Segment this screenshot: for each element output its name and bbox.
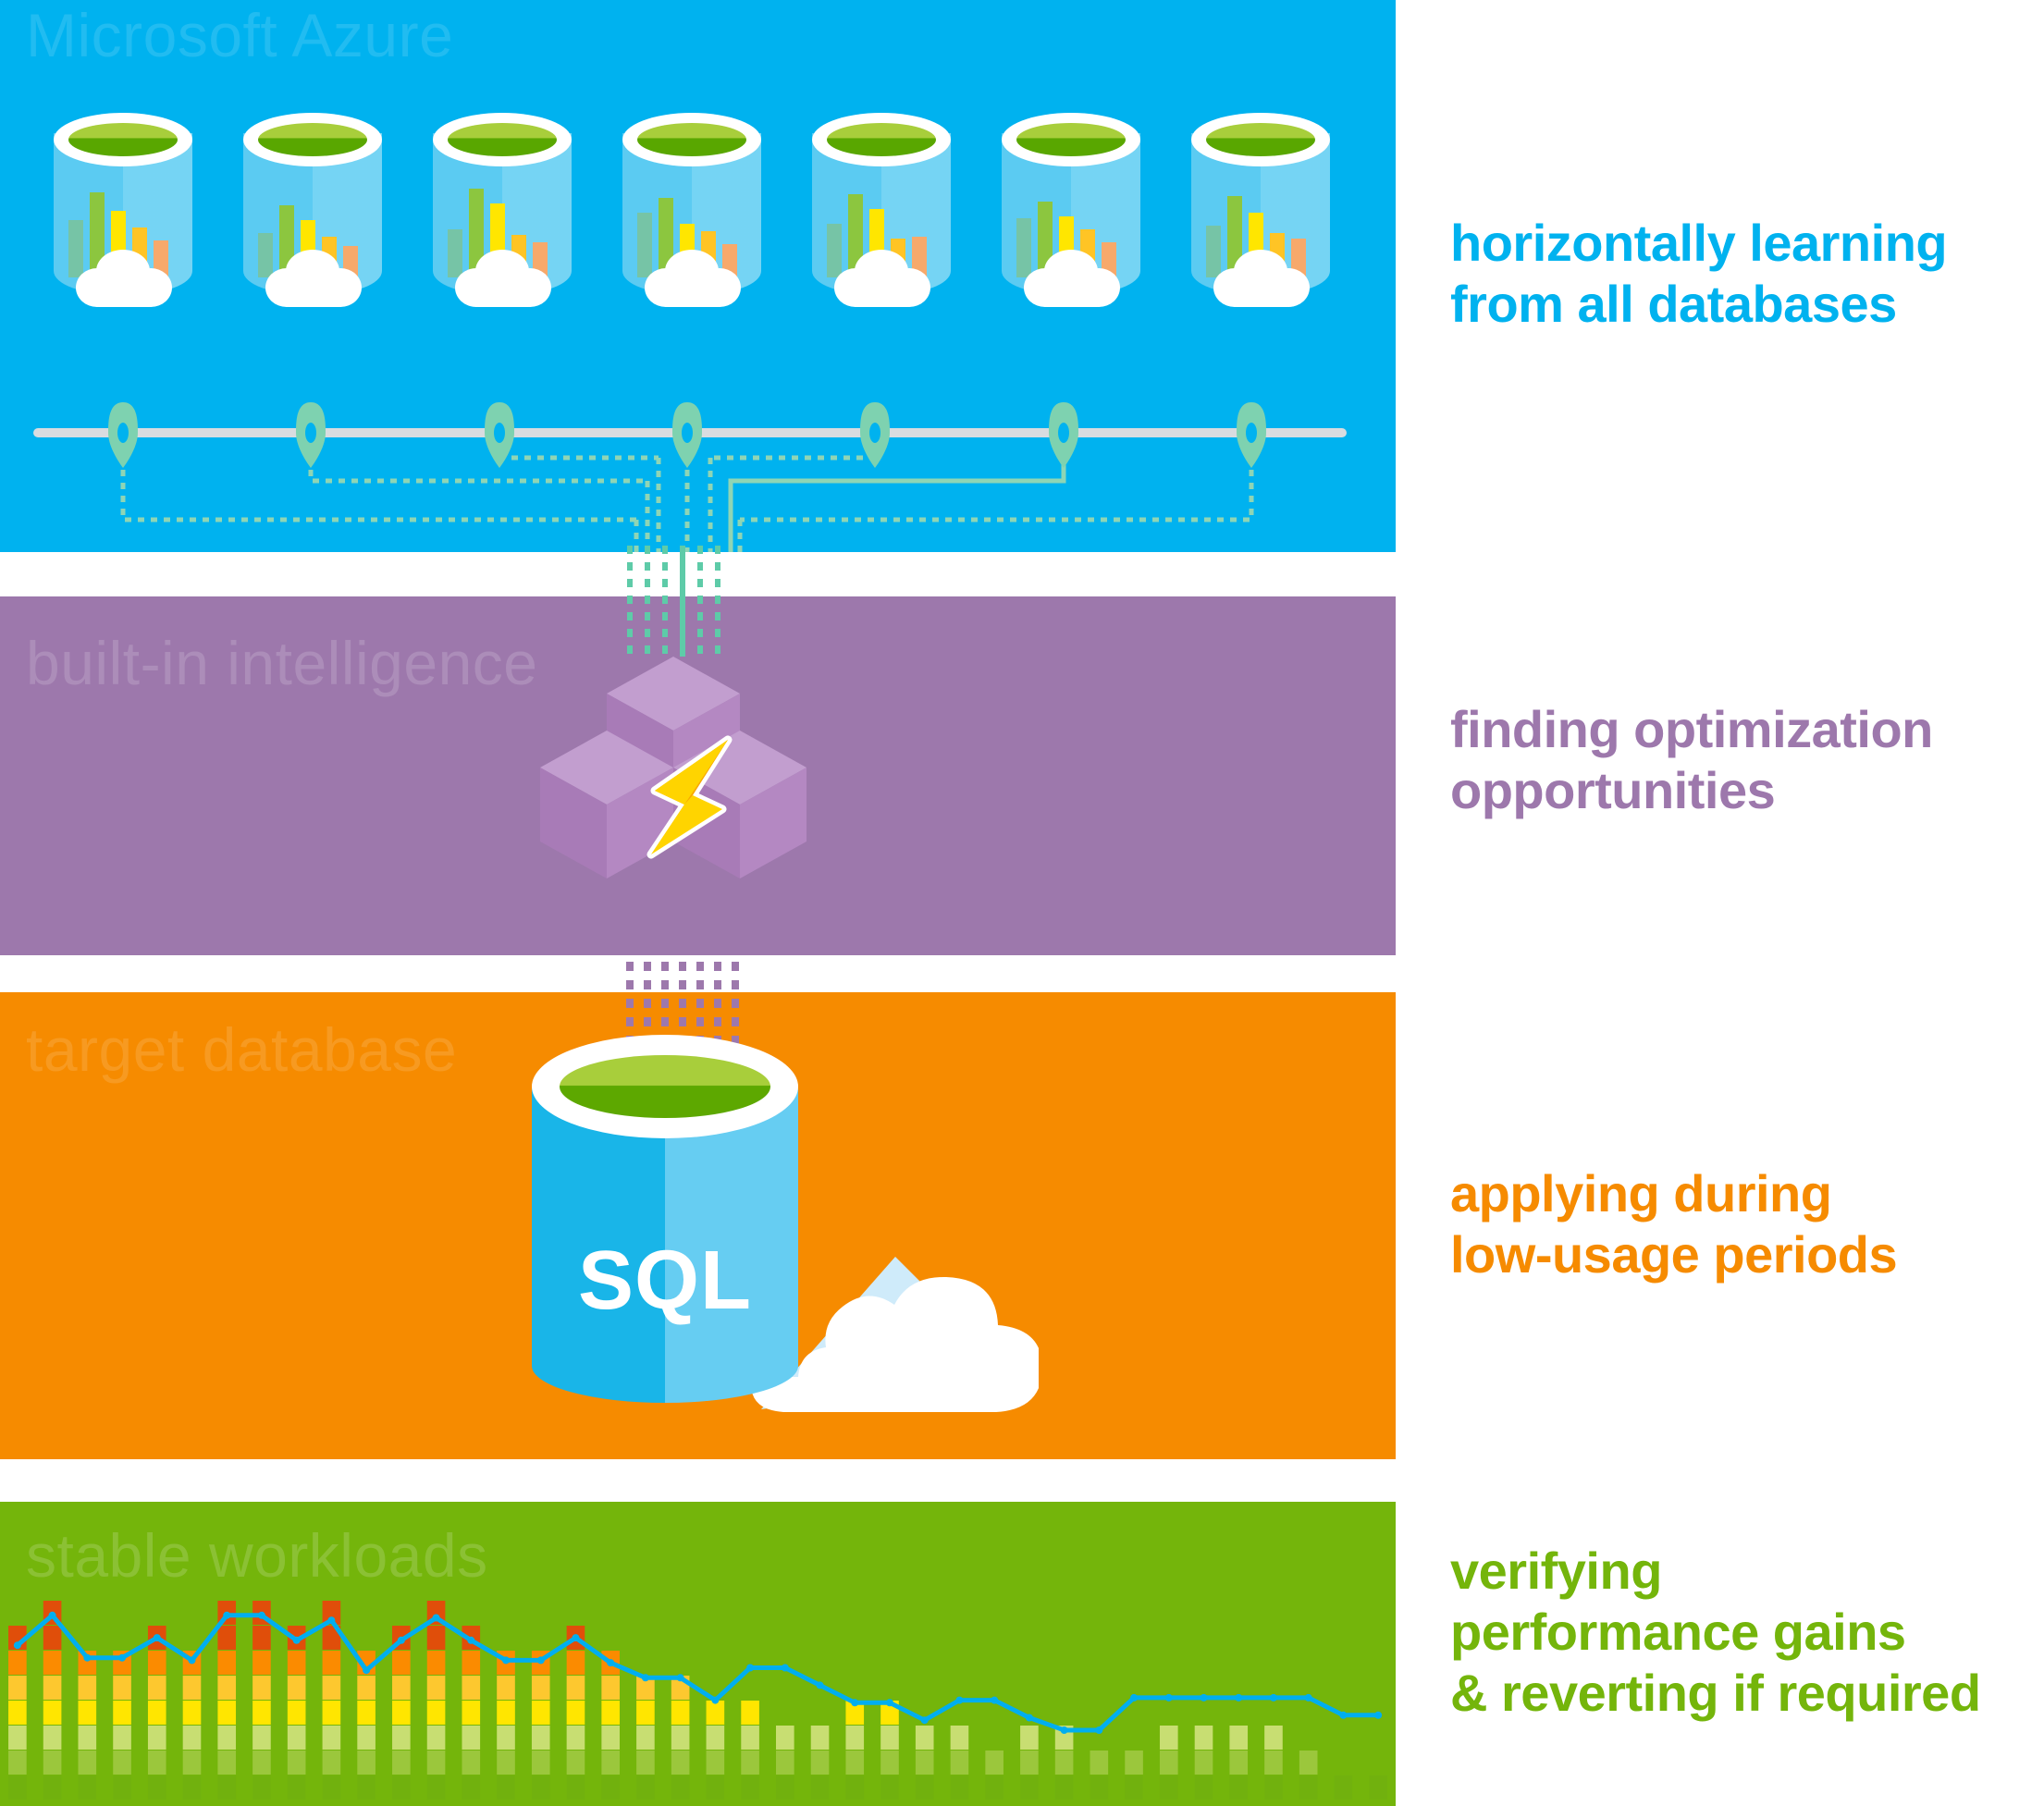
workload-bar-segment (671, 1751, 690, 1775)
workload-bar-segment (1335, 1775, 1353, 1800)
workload-bar-segment (427, 1751, 446, 1775)
workload-bar-segment (43, 1626, 62, 1650)
workload-bar-segment (357, 1751, 376, 1775)
workload-bar-segment (323, 1651, 341, 1675)
timeline-pin-hole (305, 423, 316, 443)
workload-bar-segment (43, 1775, 62, 1800)
workload-bar-segment (532, 1701, 550, 1725)
workload-bar-segment (183, 1676, 202, 1700)
workload-bar-segment (601, 1751, 620, 1775)
callout-purple-line1: finding optimization (1450, 699, 1933, 760)
workload-bar-segment (357, 1775, 376, 1800)
workload-trend-point (83, 1654, 91, 1662)
workload-bar-segment (148, 1726, 166, 1750)
workload-bar-segment (880, 1726, 899, 1750)
workload-bar-segment (148, 1751, 166, 1775)
azure-sql-database-icon: SQL (532, 1035, 1050, 1432)
workload-bar-segment (497, 1751, 515, 1775)
workload-bar-segment (1125, 1775, 1143, 1800)
workload-bar-segment (79, 1775, 97, 1800)
workload-bar-segment (79, 1676, 97, 1700)
workload-bar-segment (741, 1726, 759, 1750)
callout-verifying-performance: verifying performance gains & reverting … (1450, 1541, 1981, 1724)
workload-bar-segment (951, 1751, 969, 1775)
workload-bar-segment (288, 1751, 306, 1775)
workload-bar-segment (427, 1701, 446, 1725)
workload-trend-point (1026, 1714, 1033, 1722)
infographic-canvas: Microsoft Azure (0, 0, 2044, 1806)
workload-bar-segment (985, 1775, 1004, 1800)
callout-applying-low-usage: applying during low-usage periods (1450, 1163, 1897, 1285)
workload-bar-segment (567, 1676, 585, 1700)
workload-bar-segment (43, 1651, 62, 1675)
workload-bar-segment (288, 1726, 306, 1750)
band-horizontal-learning: Microsoft Azure (0, 0, 1396, 552)
workload-bar-segment (1160, 1751, 1178, 1775)
workload-bar-segment (1020, 1751, 1039, 1775)
workload-bar-segment (811, 1775, 830, 1800)
workload-bar-segment (113, 1751, 131, 1775)
workload-bar-segment (1195, 1751, 1213, 1775)
workload-trend-point (886, 1699, 893, 1706)
workload-bar-segment (288, 1676, 306, 1700)
workload-bar-segment (43, 1751, 62, 1775)
workload-trend-point (258, 1612, 265, 1619)
workload-bar-segment (217, 1701, 236, 1725)
workload-bar-segment (323, 1726, 341, 1750)
workload-bar-segment (288, 1651, 306, 1675)
workload-bar-segment (113, 1775, 131, 1800)
timeline-pin-hole (1246, 423, 1257, 443)
workload-trend-point (851, 1699, 858, 1706)
workload-bar-segment (1055, 1775, 1074, 1800)
workload-bar-segment (811, 1726, 830, 1750)
workload-bar-segment (532, 1775, 550, 1800)
workload-bar-segment (1369, 1775, 1387, 1800)
workload-bar-segment (392, 1676, 411, 1700)
workload-bar-segment (1299, 1775, 1318, 1800)
workload-bar-segment (217, 1726, 236, 1750)
database-cylinder-top-fill (560, 1055, 770, 1118)
workload-bar-segment (462, 1701, 480, 1725)
workload-trend-point (746, 1665, 754, 1672)
workload-bar-segment (217, 1751, 236, 1775)
timeline-pin-hole (869, 423, 880, 443)
workload-bar-segment (462, 1726, 480, 1750)
workload-bar-segment (916, 1751, 934, 1775)
workload-bar-segment (392, 1751, 411, 1775)
workload-bar-segment (427, 1626, 446, 1650)
timeline-pin-hole (1058, 423, 1069, 443)
workload-bar-segment (1195, 1775, 1213, 1800)
workload-bar-segment (1090, 1751, 1109, 1775)
workload-trend-point (154, 1634, 161, 1641)
workload-bar-segment (601, 1701, 620, 1725)
workload-bar-segment (8, 1726, 27, 1750)
workload-bar-segment (113, 1676, 131, 1700)
workload-bar-segment (567, 1775, 585, 1800)
workload-bar-segment (776, 1751, 794, 1775)
workload-trend-point (1130, 1694, 1138, 1702)
workload-bar-segment (567, 1651, 585, 1675)
workload-bar-segment (79, 1701, 97, 1725)
callout-green-line2: performance gains (1450, 1602, 1981, 1663)
workload-trend-point (607, 1659, 614, 1666)
workload-bar-segment (43, 1701, 62, 1725)
workload-bar-segment (776, 1775, 794, 1800)
workload-bar-segment (707, 1775, 725, 1800)
workload-bar-segment (707, 1701, 725, 1725)
workload-bar-segment (636, 1775, 655, 1800)
callout-blue-line2: from all databases (1450, 274, 1947, 335)
workload-trend-point (711, 1697, 719, 1704)
workload-bar-segment (567, 1701, 585, 1725)
workload-bar-segment (951, 1726, 969, 1750)
workload-bar-segment (8, 1701, 27, 1725)
workload-trend-point (572, 1634, 579, 1641)
workload-bar-segment (148, 1775, 166, 1800)
workload-bar-segment (113, 1726, 131, 1750)
workload-bar-segment (1125, 1751, 1143, 1775)
workload-bar-segment (845, 1726, 864, 1750)
workload-bar-segment (427, 1726, 446, 1750)
workload-bar-segment (916, 1775, 934, 1800)
callout-green-line3: & reverting if required (1450, 1663, 1981, 1724)
workload-bar-segment (392, 1701, 411, 1725)
workload-trend-point (398, 1637, 405, 1644)
workload-bar-segment (8, 1651, 27, 1675)
workload-bar-segment (1160, 1726, 1178, 1750)
workload-bar-segment (392, 1726, 411, 1750)
workload-trend-point (537, 1656, 545, 1664)
workload-bar-segment (8, 1775, 27, 1800)
workload-bar-segment (148, 1651, 166, 1675)
workload-bar-segment (880, 1775, 899, 1800)
workload-bar-segment (845, 1751, 864, 1775)
workload-bar-segment (323, 1751, 341, 1775)
workload-trend-point (467, 1637, 474, 1644)
workload-bar-segment (252, 1701, 271, 1725)
workload-bar-segment (1195, 1726, 1213, 1750)
workload-bar-segment (217, 1651, 236, 1675)
workload-trend-point (223, 1612, 230, 1619)
workload-bar-segment (1020, 1726, 1039, 1750)
workload-bar-segment (671, 1726, 690, 1750)
workload-bar-segment (916, 1726, 934, 1750)
workload-bar-segment (985, 1751, 1004, 1775)
timeline-pin-hole (494, 423, 505, 443)
workload-trend-point (1235, 1694, 1242, 1702)
workload-bar-segment (323, 1775, 341, 1800)
workload-bar-chart (0, 1502, 1396, 1806)
workload-bar-segment (148, 1701, 166, 1725)
workload-bar-segment (462, 1751, 480, 1775)
workload-trend-point (677, 1674, 684, 1681)
workload-bar-segment (462, 1676, 480, 1700)
callout-green-line1: verifying (1450, 1541, 1981, 1602)
workload-bar-segment (776, 1726, 794, 1750)
workload-trend-point (118, 1654, 126, 1662)
workload-bar-segment (357, 1726, 376, 1750)
workload-trend-point (327, 1616, 335, 1624)
workload-bar-segment (845, 1775, 864, 1800)
workload-bar-segment (601, 1726, 620, 1750)
callout-orange-line1: applying during (1450, 1163, 1897, 1224)
workload-bar-segment (427, 1651, 446, 1675)
workload-bar-segment (532, 1751, 550, 1775)
workload-bar-segment (392, 1775, 411, 1800)
workload-trend-point (49, 1612, 56, 1619)
callout-finding-optimization: finding optimization opportunities (1450, 699, 1933, 821)
workload-trend-point (1305, 1694, 1312, 1702)
workload-bar-segment (113, 1701, 131, 1725)
workload-trend-point (955, 1697, 963, 1704)
workload-bar-segment (1020, 1775, 1039, 1800)
workload-bar-segment (1160, 1775, 1178, 1800)
workload-bar-segment (183, 1701, 202, 1725)
workload-bar-segment (707, 1751, 725, 1775)
workload-bar-segment (462, 1775, 480, 1800)
workload-bar-segment (880, 1751, 899, 1775)
workload-bar-segment (427, 1676, 446, 1700)
watermark-orange: target database (26, 1014, 457, 1085)
workload-bar-segment (183, 1775, 202, 1800)
workload-bar-segment (148, 1676, 166, 1700)
workload-bar-segment (601, 1775, 620, 1800)
workload-bar-segment (252, 1751, 271, 1775)
workload-bar-segment (252, 1726, 271, 1750)
workload-trend-point (921, 1716, 929, 1724)
workload-trend-point (293, 1637, 301, 1644)
workload-trend-point (14, 1641, 21, 1649)
workload-trend-point (817, 1681, 824, 1689)
workload-trend-point (1061, 1726, 1068, 1734)
workload-bar-segment (532, 1676, 550, 1700)
workload-bar-segment (323, 1701, 341, 1725)
workload-trend-point (782, 1665, 789, 1672)
workload-bar-segment (252, 1626, 271, 1650)
workload-bar-segment (1229, 1775, 1248, 1800)
workload-trend-point (502, 1656, 510, 1664)
workload-bar-segment (43, 1676, 62, 1700)
callout-horizontal-learning: horizontally learning from all databases (1450, 213, 1947, 335)
workload-bar-segment (1090, 1775, 1109, 1800)
workload-bar-segment (288, 1701, 306, 1725)
workload-bar-segment (252, 1651, 271, 1675)
workload-bar-segment (357, 1701, 376, 1725)
workload-bar-segment (8, 1676, 27, 1700)
workload-bar-segment (217, 1676, 236, 1700)
workload-bar-segment (288, 1775, 306, 1800)
workload-trend-point (188, 1656, 195, 1664)
workload-bar-segment (1299, 1751, 1318, 1775)
workload-bar-segment (252, 1676, 271, 1700)
workload-bar-segment (951, 1775, 969, 1800)
workload-bar-segment (741, 1701, 759, 1725)
workload-bar-segment (79, 1751, 97, 1775)
timeline-pin-hole (682, 423, 693, 443)
workload-bar-segment (707, 1726, 725, 1750)
workload-bar-segment (462, 1651, 480, 1675)
workload-bar-segment (1229, 1751, 1248, 1775)
workload-bar-segment (79, 1726, 97, 1750)
workload-bar-segment (8, 1751, 27, 1775)
workload-trend-point (991, 1697, 998, 1704)
workload-bar-segment (1055, 1751, 1074, 1775)
workload-bar-segment (357, 1676, 376, 1700)
workload-bar-segment (183, 1726, 202, 1750)
workload-bar-segment (1264, 1751, 1283, 1775)
workload-bar-segment (497, 1726, 515, 1750)
workload-trend-point (1374, 1712, 1382, 1719)
workload-bar-segment (636, 1726, 655, 1750)
workload-bar-segment (392, 1651, 411, 1675)
workload-trend-point (1165, 1694, 1173, 1702)
workload-bar-segment (497, 1676, 515, 1700)
workload-trend-point (642, 1674, 649, 1681)
workload-trend-point (363, 1666, 370, 1674)
workload-bar-segment (217, 1626, 236, 1650)
workload-bar-segment (1264, 1726, 1283, 1750)
workload-trend-point (433, 1615, 440, 1622)
sql-label: SQL (532, 1234, 798, 1329)
workload-bar-segment (1229, 1726, 1248, 1750)
workload-trend-point (1201, 1694, 1208, 1702)
callout-blue-line1: horizontally learning (1450, 213, 1947, 274)
workload-bar-segment (183, 1751, 202, 1775)
callout-purple-line2: opportunities (1450, 760, 1933, 821)
workload-bar-segment (217, 1775, 236, 1800)
workload-bar-segment (43, 1726, 62, 1750)
workload-bar-segment (323, 1676, 341, 1700)
workload-bar-segment (741, 1751, 759, 1775)
workload-bar-segment (497, 1775, 515, 1800)
workload-trend-point (1095, 1726, 1102, 1734)
workload-trend-point (1339, 1712, 1347, 1719)
workload-trend-point (1270, 1694, 1277, 1702)
workload-bar-segment (636, 1701, 655, 1725)
workload-bar-segment (601, 1676, 620, 1700)
workload-bar-segment (427, 1775, 446, 1800)
workload-bar-segment (532, 1726, 550, 1750)
workload-bar-segment (671, 1701, 690, 1725)
band-stable-workloads: stable workloads (0, 1502, 1396, 1806)
cubes-lightning-icon (525, 640, 821, 890)
workload-bar-segment (497, 1701, 515, 1725)
workload-bar-segment (671, 1775, 690, 1800)
workload-bar-segment (567, 1726, 585, 1750)
timeline-graphic (0, 0, 1396, 552)
workload-bar-segment (811, 1751, 830, 1775)
timeline-pin-hole (117, 423, 129, 443)
workload-bar-segment (1264, 1775, 1283, 1800)
workload-bar-segment (567, 1751, 585, 1775)
workload-bar-segment (741, 1775, 759, 1800)
callout-orange-line2: low-usage periods (1450, 1224, 1897, 1285)
workload-bar-segment (636, 1751, 655, 1775)
workload-bar-segment (252, 1775, 271, 1800)
